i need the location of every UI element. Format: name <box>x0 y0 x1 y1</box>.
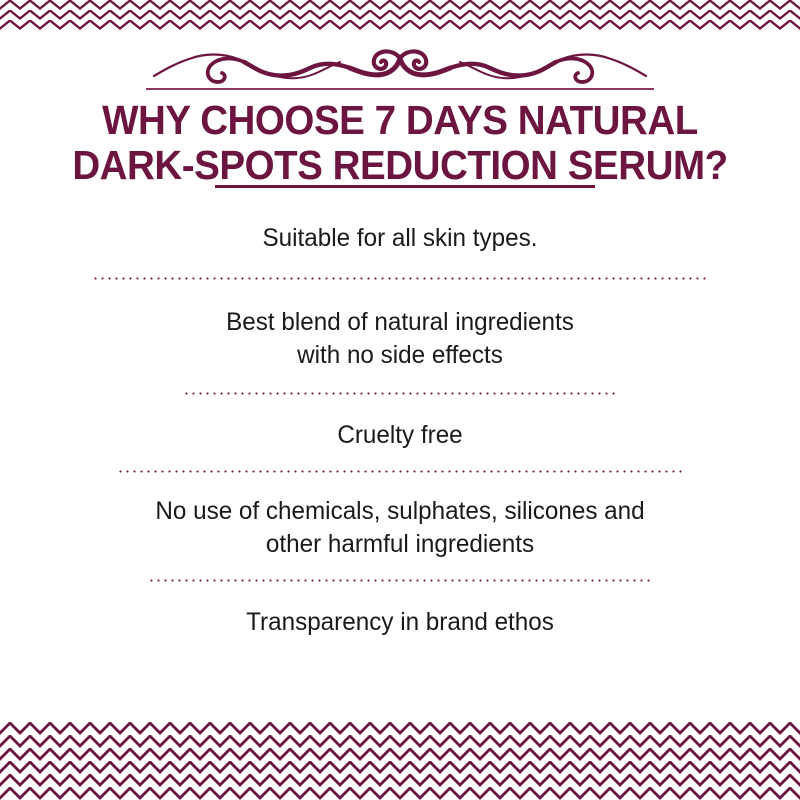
spacer <box>0 473 800 495</box>
bottom-chevron-border <box>0 722 800 800</box>
spacer <box>0 255 800 277</box>
benefit-text: Transparency in brand ethos <box>12 606 788 639</box>
page-title-line-2: DARK-SPOTS REDUCTION SERUM? <box>24 143 776 188</box>
page-title-line-1: WHY CHOOSE 7 DAYS NATURAL <box>24 98 776 143</box>
top-chevron-border <box>0 0 800 30</box>
spacer <box>0 395 800 419</box>
flourish-ornament-icon <box>140 44 660 96</box>
spacer <box>0 452 800 470</box>
benefits-list: Suitable for all skin types. Best blend … <box>0 222 800 639</box>
page-title: WHY CHOOSE 7 DAYS NATURAL DARK-SPOTS RED… <box>0 98 800 188</box>
spacer <box>0 561 800 579</box>
spacer <box>0 280 800 306</box>
benefit-item-transparency-brand-ethos: Transparency in brand ethos <box>12 606 788 639</box>
benefit-text: Cruelty free <box>12 419 788 452</box>
benefit-item-best-blend-natural-ingredients: Best blend of natural ingredients with n… <box>12 306 788 372</box>
benefit-item-cruelty-free: Cruelty free <box>12 419 788 452</box>
benefit-text: Best blend of natural ingredients <box>12 306 788 339</box>
benefit-text: other harmful ingredients <box>12 528 788 561</box>
benefit-text: No use of chemicals, sulphates, silicone… <box>12 495 788 528</box>
title-underline <box>215 185 595 188</box>
benefit-item-suitable-all-skin-types: Suitable for all skin types. <box>12 222 788 255</box>
benefit-item-no-chemicals-sulphates-silicones: No use of chemicals, sulphates, silicone… <box>12 495 788 561</box>
benefit-text: with no side effects <box>12 339 788 372</box>
spacer <box>0 372 800 392</box>
poster-canvas: WHY CHOOSE 7 DAYS NATURAL DARK-SPOTS RED… <box>0 0 800 800</box>
spacer <box>0 582 800 606</box>
benefit-text: Suitable for all skin types. <box>12 222 788 255</box>
